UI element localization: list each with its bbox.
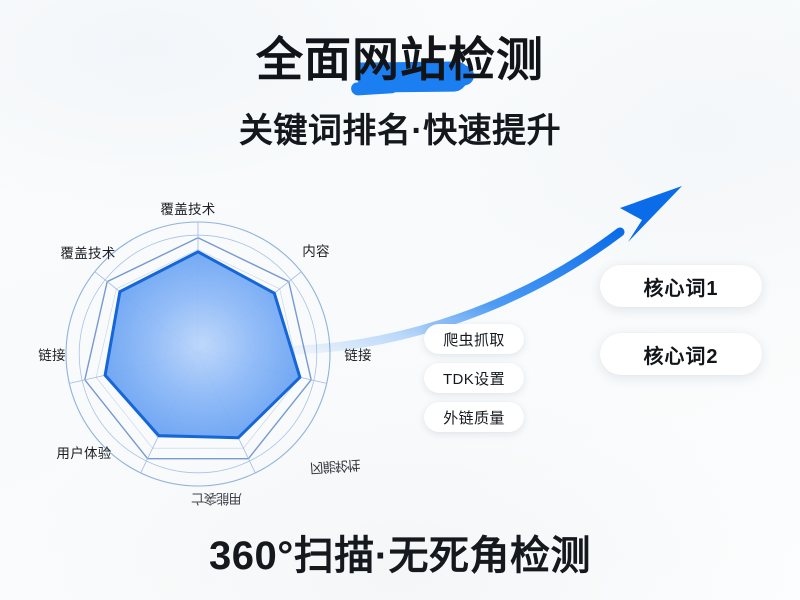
bottom-headline: 360°扫描·无死角检测 [0,523,800,581]
radar-label-6: 覆盖技术 [60,242,115,262]
headline-block: 全面网站检测 关键词排名·快速提升 [0,32,800,152]
radar-series-polygon [105,252,300,438]
radar-label-4: 用能衾亡 [192,490,242,510]
chip-crawler[interactable]: 爬虫抓取 [424,324,524,354]
title-part-after: 检测 [448,33,544,86]
radar-label-5: 用户体验 [56,442,111,462]
keyword-card-2[interactable]: 核心词2 [600,333,762,375]
poster-canvas: 全面网站检测 关键词排名·快速提升 覆盖技术 内容 [0,0,800,600]
keyword-card-1[interactable]: 核心词1 [600,265,762,307]
chip-backlink[interactable]: 外链质量 [424,402,524,432]
radar-label-3: 冈能轮性 [309,456,360,479]
radar-label-0: 覆盖技术 [160,198,215,218]
page-subtitle: 关键词排名·快速提升 [0,103,800,152]
radar-label-left-link: 链接 [38,344,66,364]
page-title: 全面网站检测 [256,32,544,87]
title-part-before: 全面 [256,33,352,86]
title-part-highlight: 网站 [352,33,448,86]
chip-tdk[interactable]: TDK设置 [424,363,524,393]
